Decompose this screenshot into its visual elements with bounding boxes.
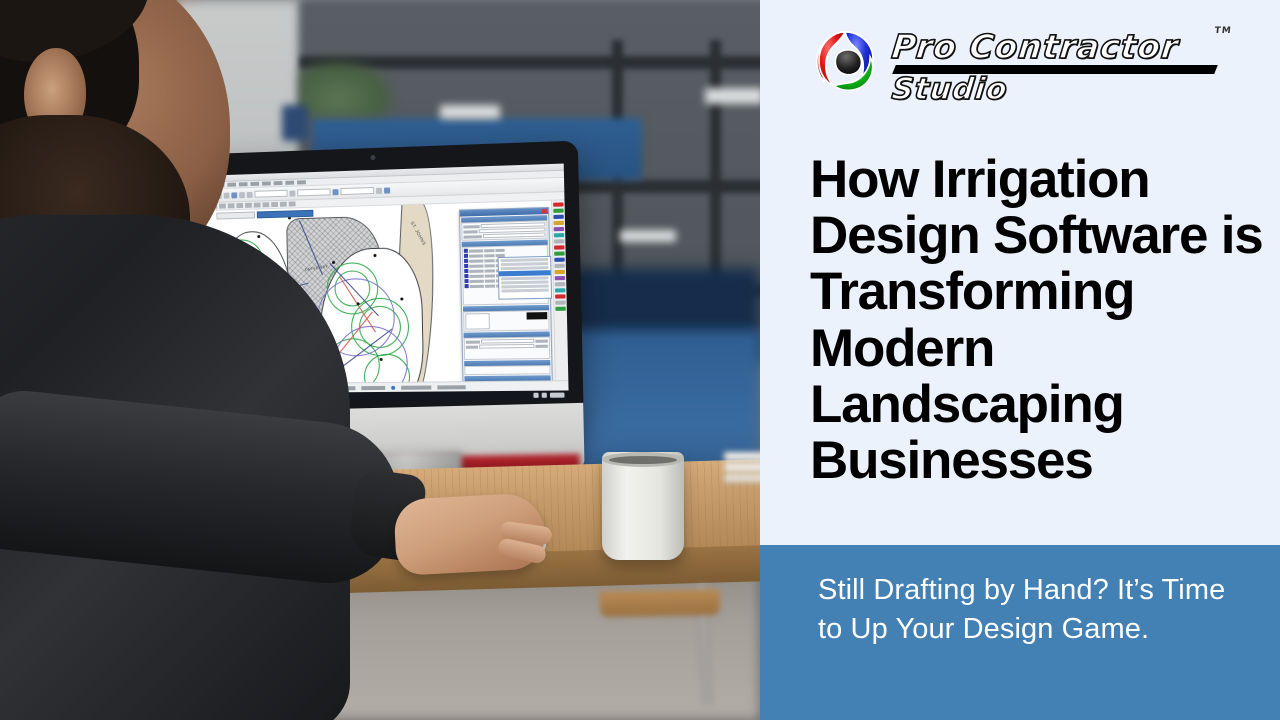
close-icon[interactable] [542,209,547,213]
trademark-symbol: TM [1214,27,1232,36]
dialog-section-extra [464,360,550,375]
shelf-box [620,230,676,242]
dialog-section-options [464,331,551,360]
shelf-box [440,105,500,119]
footer-tagline: Still Drafting by Hand? It’s Time to Up … [818,571,1238,648]
dropdown-list[interactable] [498,256,552,300]
sprinkler-placement-dialog[interactable] [459,207,553,384]
desk-stretcher [600,589,720,617]
page-title: How Irrigation Design Software is Transf… [810,152,1270,489]
plant-pot [282,105,308,141]
cad-combo [297,188,330,196]
brand-line-1: Pro Contractor TM [890,30,1217,63]
blog-banner: DRIVEWAY ST. JOHNS [0,0,1280,720]
dialog-section-preview [463,305,550,332]
brand-logo[interactable]: Pro Contractor TM Studio [810,26,1216,105]
webcam-icon [370,155,375,160]
cad-combo [254,190,287,198]
cad-combo [340,187,374,195]
aperture-swirl-icon [810,26,880,98]
stacked-books [724,452,760,496]
hero-photo: DRIVEWAY ST. JOHNS [0,0,760,720]
cad-tab[interactable] [216,212,255,220]
plant [300,58,395,116]
brand-line-2: Studio [890,75,1217,105]
content-panel: Pro Contractor TM Studio How Irrigation … [760,0,1280,720]
footer-band: Still Drafting by Hand? It’s Time to Up … [760,545,1280,720]
dialog-section-list [462,240,549,306]
brand-wordmark: Pro Contractor TM Studio [892,26,1216,105]
dialog-section [461,215,548,241]
shelf-box [705,88,760,104]
coffee-mug [602,452,684,560]
